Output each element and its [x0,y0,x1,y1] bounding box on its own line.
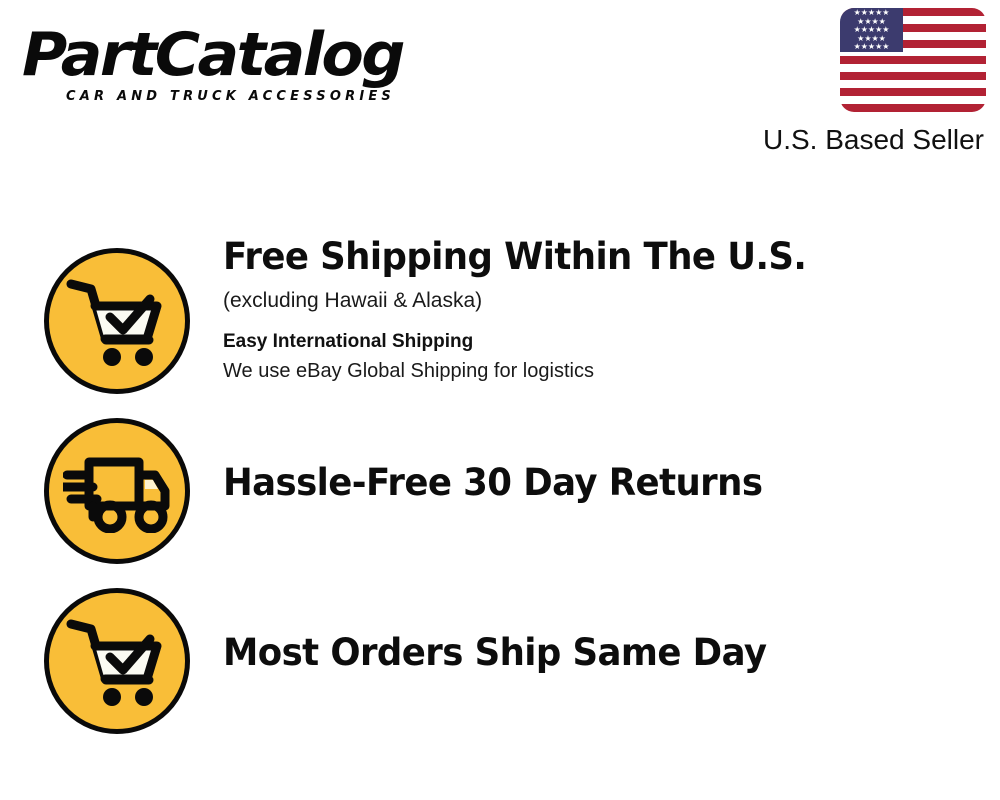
seller-badge: ★★★★★ ★★★★ ★★★★★ ★★★★ ★★★★★ U.S. Based S… [716,8,986,157]
feature-text-block: Hassle-Free 30 Day Returns [223,460,980,506]
feature-text-block: Most Orders Ship Same Day [223,630,980,676]
feature-headline: Free Shipping Within The U.S. [223,234,950,280]
feature-row: Free Shipping Within The U.S. (excluding… [0,230,1000,400]
us-flag-icon: ★★★★★ ★★★★ ★★★★★ ★★★★ ★★★★★ [840,8,986,112]
feature-subline: (excluding Hawaii & Alaska) [223,286,980,316]
feature-subheading: Easy International Shipping [223,328,980,356]
delivery-truck-icon [44,418,190,564]
feature-row: Hassle-Free 30 Day Returns [0,414,1000,574]
brand-wordmark: PartCatalog [22,22,506,88]
feature-subheading-note: We use eBay Global Shipping for logistic… [223,357,980,386]
seller-badge-label: U.S. Based Seller [716,123,984,157]
feature-text-block: Free Shipping Within The U.S. (excluding… [223,234,980,386]
shopping-cart-check-icon [44,588,190,734]
page-header: PartCatalog CAR AND TRUCK ACCESSORIES ★★… [0,0,1000,175]
feature-headline: Hassle-Free 30 Day Returns [223,460,950,506]
brand-logo: PartCatalog CAR AND TRUCK ACCESSORIES [22,22,492,122]
feature-row: Most Orders Ship Same Day [0,584,1000,744]
shopping-cart-check-icon [44,248,190,394]
brand-tagline: CAR AND TRUCK ACCESSORIES [66,89,492,104]
feature-headline: Most Orders Ship Same Day [223,630,950,676]
